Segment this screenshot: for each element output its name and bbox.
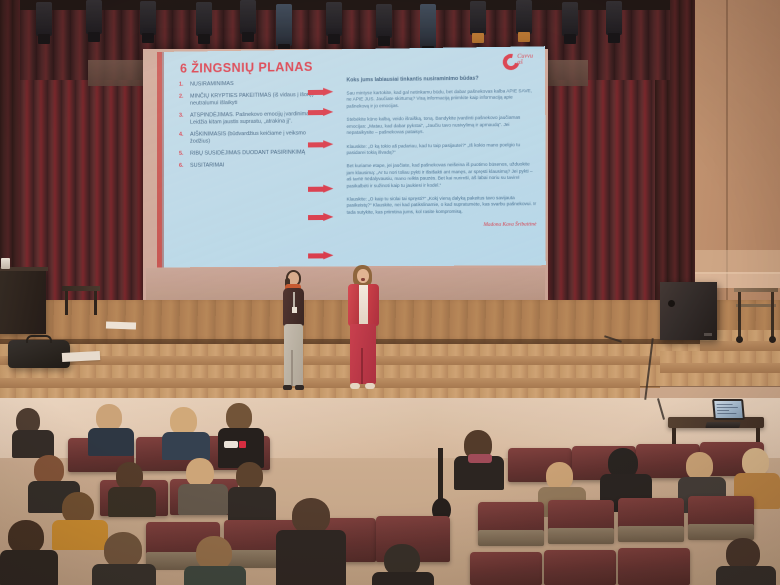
shirt-graphic-accent <box>239 441 246 448</box>
arrow-right-icon <box>308 185 334 193</box>
shoe <box>365 383 375 389</box>
torso <box>162 432 210 460</box>
slide-arrow-column <box>308 84 343 262</box>
audience-member <box>0 520 58 585</box>
cup-icon <box>1 258 10 269</box>
arrow-right-icon <box>308 108 334 116</box>
seat-base <box>618 526 684 542</box>
slide-paragraph: Klauskite: „O kaip tu siūlai tai spręsti… <box>347 195 537 216</box>
stage-light-icon <box>606 1 622 35</box>
plan-text: NUSIRAMINIMAS <box>190 81 234 89</box>
torso <box>716 566 776 585</box>
stage-speaker <box>660 282 717 340</box>
plan-text: MINČIŲ KRYPTIES PAKEITIMAS (iš vidaus į … <box>190 92 320 108</box>
head <box>686 452 713 480</box>
seat-frame <box>438 448 443 504</box>
stage-light-icon <box>36 2 52 36</box>
arrow-right-icon <box>308 251 334 259</box>
plan-item: 6. SUSITARIMAI <box>179 161 320 170</box>
plan-text: AIŠKINIMASIS (būdvardžius keičiame į vei… <box>190 130 320 146</box>
jacket-left-panel <box>348 284 359 326</box>
stage-light-icon <box>516 0 532 34</box>
cart-leg <box>771 292 774 338</box>
plan-item: 2. MINČIŲ KRYPTIES PAKEITIMAS (iš vidaus… <box>179 92 320 108</box>
slide-paragraph: Bet kuriame etape, jei jaučiate, kad paš… <box>347 162 537 190</box>
logo-wordmark: Cuvvu aš <box>517 54 533 67</box>
seat[interactable] <box>618 548 690 585</box>
arrow-right-icon <box>308 213 334 221</box>
stage-light-icon <box>140 1 156 35</box>
stage-light-icon <box>276 4 292 46</box>
plan-item: 3. ATSPINDĖJIMAS. Pašnekovo emocijų įvar… <box>179 111 320 127</box>
seat-base <box>548 528 614 544</box>
audience-member <box>184 536 246 585</box>
duffel-bag <box>8 340 70 368</box>
torso <box>92 564 156 585</box>
plan-number: 2. <box>179 93 188 108</box>
trousers <box>350 324 376 384</box>
jacket-right-panel <box>368 284 379 326</box>
cart-leg <box>738 292 741 338</box>
speaker-badge <box>704 333 712 336</box>
slide-title: 6 ŽINGSNIŲ PLANAS <box>180 60 313 76</box>
seat[interactable] <box>544 550 616 585</box>
torso <box>108 487 156 517</box>
stage-light-icon <box>326 2 342 36</box>
audience-member <box>218 403 264 465</box>
stage-step-riser-2 <box>0 378 660 388</box>
laptop-lid <box>712 399 745 420</box>
stage-light-icon <box>86 0 102 34</box>
stage-light-icon <box>240 0 256 34</box>
audience-member <box>228 462 276 522</box>
head <box>104 532 142 568</box>
side-cabinet <box>0 270 46 334</box>
laptop-screen[interactable] <box>714 401 742 418</box>
plan-number: 1. <box>179 82 188 89</box>
head <box>236 462 263 490</box>
torso <box>372 572 434 585</box>
torso <box>178 484 228 515</box>
slide-right-column: Koks jums labiausiai tinkantis nusiramin… <box>346 75 536 229</box>
shoe <box>350 383 360 389</box>
audience-member <box>162 407 210 457</box>
slide-plan-list: 1. NUSIRAMINIMAS 2. MINČIŲ KRYPTIES PAKE… <box>179 80 320 175</box>
mouth <box>361 278 365 281</box>
audience-member <box>454 430 504 488</box>
cart-wheel <box>769 336 776 343</box>
head <box>116 462 143 490</box>
name-badge <box>292 307 297 313</box>
audience-member <box>372 544 434 585</box>
stage-step-right-riser-2 <box>660 363 780 373</box>
trousers <box>284 324 303 386</box>
audience-member <box>108 462 156 514</box>
plan-text: SUSITARIMAI <box>190 162 224 170</box>
plan-number: 3. <box>179 113 188 128</box>
plan-text: RIBŲ SUSIDĖJIMAS DUODANT PASIRINKIMĄ <box>190 150 305 159</box>
logo-word-line1: Cuvvu <box>517 54 533 60</box>
bag-handle <box>26 335 52 343</box>
auditorium-scene: 6 ŽINGSNIŲ PLANAS 1. NUSIRAMINIMAS 2. MI… <box>0 0 780 585</box>
audience-member <box>178 458 228 512</box>
stool-leg <box>94 291 97 315</box>
cart-shelf-mid <box>736 304 776 307</box>
stage-step-2 <box>0 365 660 378</box>
head <box>546 462 573 490</box>
arrow-right-icon <box>308 88 334 96</box>
audience-member <box>92 532 156 585</box>
brand-logo: Cuvvu aš <box>503 52 538 73</box>
stage-light-icon <box>196 2 212 36</box>
torso <box>276 530 346 585</box>
slide-signature: Madona Kava Šribaitinė <box>347 222 537 229</box>
stool-leg <box>65 291 68 315</box>
slide-accent-stripe-inner <box>162 52 164 268</box>
stage-light-icon <box>562 2 578 36</box>
head <box>196 536 232 570</box>
logo-word-line2: aš <box>517 60 523 66</box>
plan-number: 4. <box>179 132 188 147</box>
plan-item: 4. AIŠKINIMASIS (būdvardžius keičiame į … <box>179 130 320 146</box>
presenter-student <box>281 272 307 390</box>
head <box>226 403 252 431</box>
audience-member <box>12 408 54 456</box>
head <box>96 404 122 431</box>
papers-on-stage <box>106 321 136 329</box>
shoe <box>283 385 292 390</box>
head <box>742 448 769 476</box>
head <box>170 407 197 435</box>
equipment-cart <box>734 288 778 342</box>
stage-stool <box>62 286 100 314</box>
plan-text: ATSPINDĖJIMAS. Pašnekovo emocijų įvardin… <box>190 111 320 127</box>
plan-number: 6. <box>179 163 188 170</box>
trouser-seam <box>291 350 293 386</box>
stage-step-right-3 <box>640 373 780 386</box>
seat-base <box>478 530 544 546</box>
stage-step-right-2 <box>660 351 780 363</box>
stage-light-icon <box>376 4 392 38</box>
audience-member <box>88 404 134 454</box>
right-wall-recess-upper <box>690 250 780 274</box>
trouser-seam <box>361 348 363 384</box>
laptop-keyboard[interactable] <box>705 422 740 428</box>
head <box>8 520 44 554</box>
arrow-right-icon <box>308 140 334 148</box>
plan-number: 5. <box>179 151 188 158</box>
presenter-speaker <box>347 266 379 390</box>
audience-member <box>716 538 776 585</box>
shirt-graphic <box>224 441 238 448</box>
seat[interactable] <box>470 552 542 585</box>
plan-item: 1. NUSIRAMINIMAS <box>179 80 320 89</box>
head <box>186 458 214 487</box>
slide-paragraph: Klauskite: „O ką tokio aš padariau, kad … <box>347 141 537 156</box>
head <box>292 498 330 534</box>
slide-question-heading: Koks jums labiausiai tinkantis nusiramin… <box>346 75 535 84</box>
torso <box>0 550 58 585</box>
torso <box>12 430 54 458</box>
stage-light-icon <box>470 1 486 35</box>
plan-item: 5. RIBŲ SUSIDĖJIMAS DUODANT PASIRINKIMĄ <box>179 149 320 158</box>
lanyard <box>293 292 295 308</box>
torso <box>88 428 134 456</box>
scarf <box>468 454 492 463</box>
presentation-slide: 6 ŽINGSNIŲ PLANAS 1. NUSIRAMINIMAS 2. MI… <box>157 46 546 267</box>
stage-light-icon <box>420 4 436 48</box>
slide-paragraph: Sau mintyse kartokite, kad gal netinkamu… <box>346 88 535 110</box>
slide-paragraph: Stebėkite kūno kalbą, veido išraišką, to… <box>346 115 536 137</box>
speaker-port <box>668 300 675 307</box>
cart-wheel <box>736 336 743 343</box>
shoe <box>295 385 304 390</box>
audience-member <box>276 498 346 585</box>
right-wall-seam <box>726 0 728 345</box>
torso <box>184 566 246 585</box>
